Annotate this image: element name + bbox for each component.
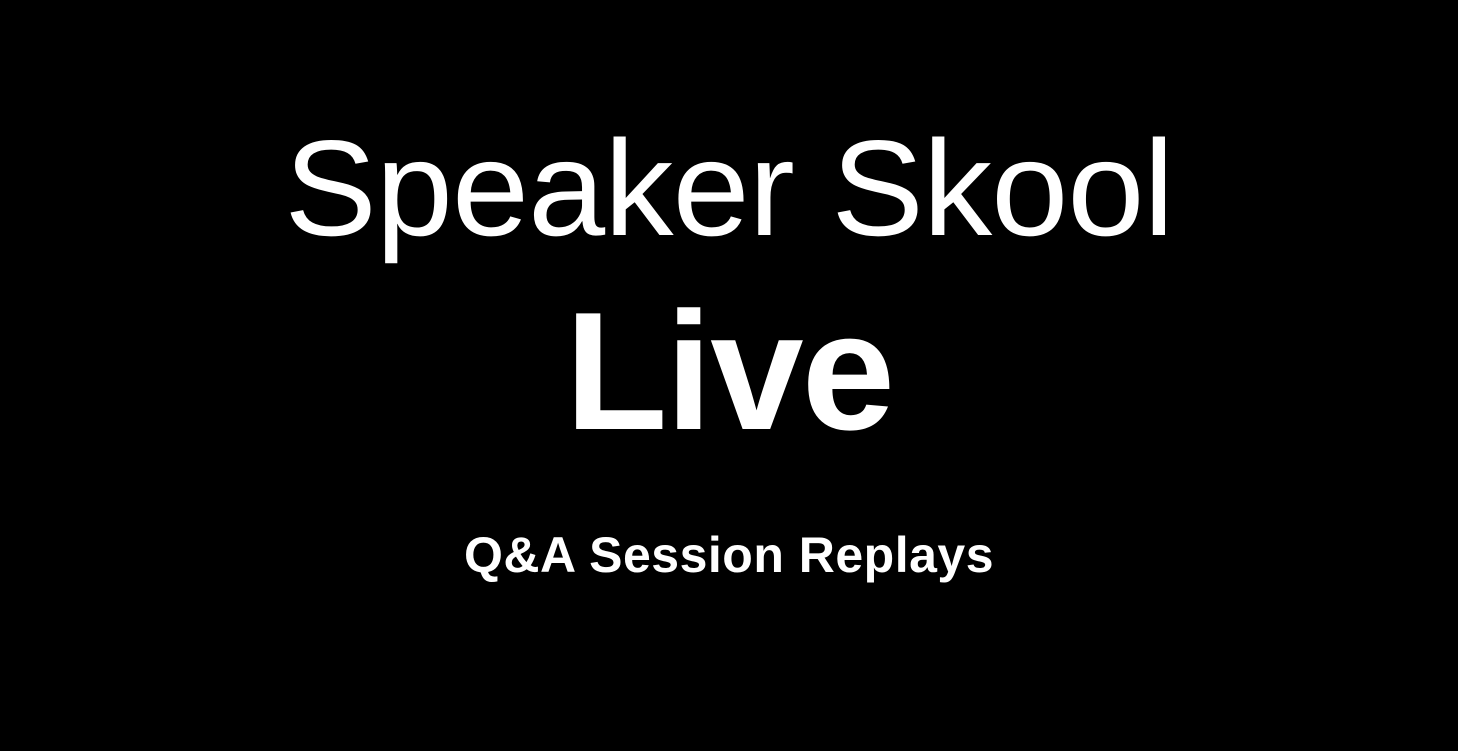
slide-subtitle: Q&A Session Replays: [0, 528, 1458, 583]
title-line-primary: Speaker Skool: [285, 118, 1174, 259]
title-block: Speaker Skool Live: [0, 118, 1458, 455]
title-line-secondary: Live: [565, 287, 893, 455]
title-slide: Speaker Skool Live Q&A Session Replays: [0, 0, 1458, 751]
